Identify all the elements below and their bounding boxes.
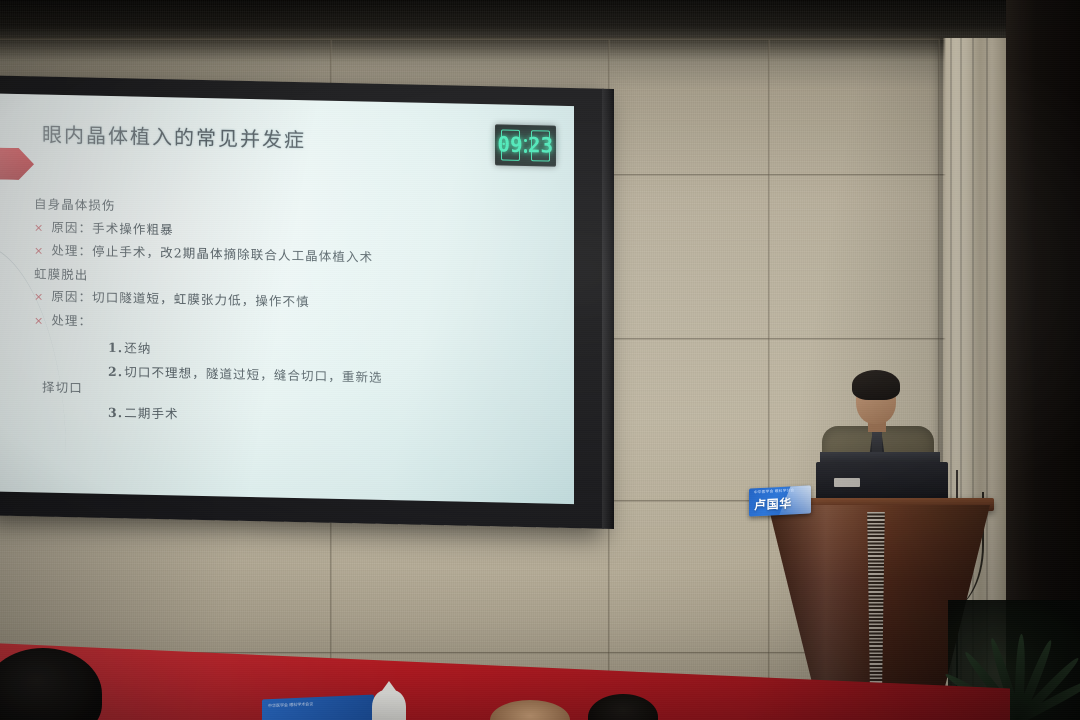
conference-photo-scene: 眼内晶体植入的常见并发症 自身晶体损伤 × 原因：手术操作粗暴 × 处理：停止手… <box>0 0 1080 720</box>
photo-vignette <box>0 0 1080 720</box>
